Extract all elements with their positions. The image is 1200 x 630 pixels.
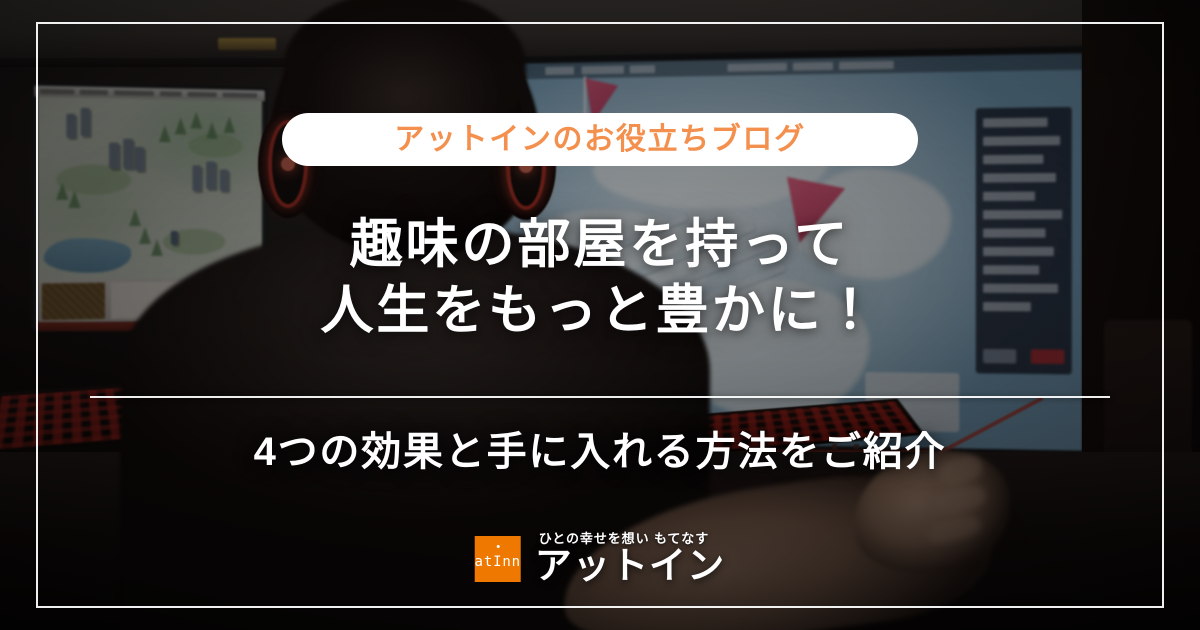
page-title: 趣味の部屋を持って 人生をもっと豊かに！ <box>0 212 1200 345</box>
brand-wordmark: ひとの幸せを想い もてなす アットイン <box>535 532 726 586</box>
page-title-line-2: 人生をもっと豊かに！ <box>0 278 1200 344</box>
card-content: アットインのお役立ちブログ 趣味の部屋を持って 人生をもっと豊かに！ 4つの効果… <box>0 0 1200 630</box>
brand-logo: atInn ひとの幸せを想い もてなす アットイン <box>475 532 726 586</box>
blog-category-badge: アットインのお役立ちブログ <box>282 113 918 166</box>
page-subtitle: 4つの効果と手に入れる方法をご紹介 <box>0 428 1200 476</box>
title-divider <box>90 396 1110 398</box>
atinn-logo-mark: atInn <box>475 536 521 582</box>
logo-dot-icon <box>496 545 499 548</box>
page-title-line-1: 趣味の部屋を持って <box>0 212 1200 278</box>
logo-mark-text: atInn <box>475 555 521 569</box>
blog-ogp-card: アットインのお役立ちブログ 趣味の部屋を持って 人生をもっと豊かに！ 4つの効果… <box>0 0 1200 630</box>
brand-name: アットイン <box>535 547 726 586</box>
blog-category-label: アットインのお役立ちブログ <box>394 125 805 155</box>
